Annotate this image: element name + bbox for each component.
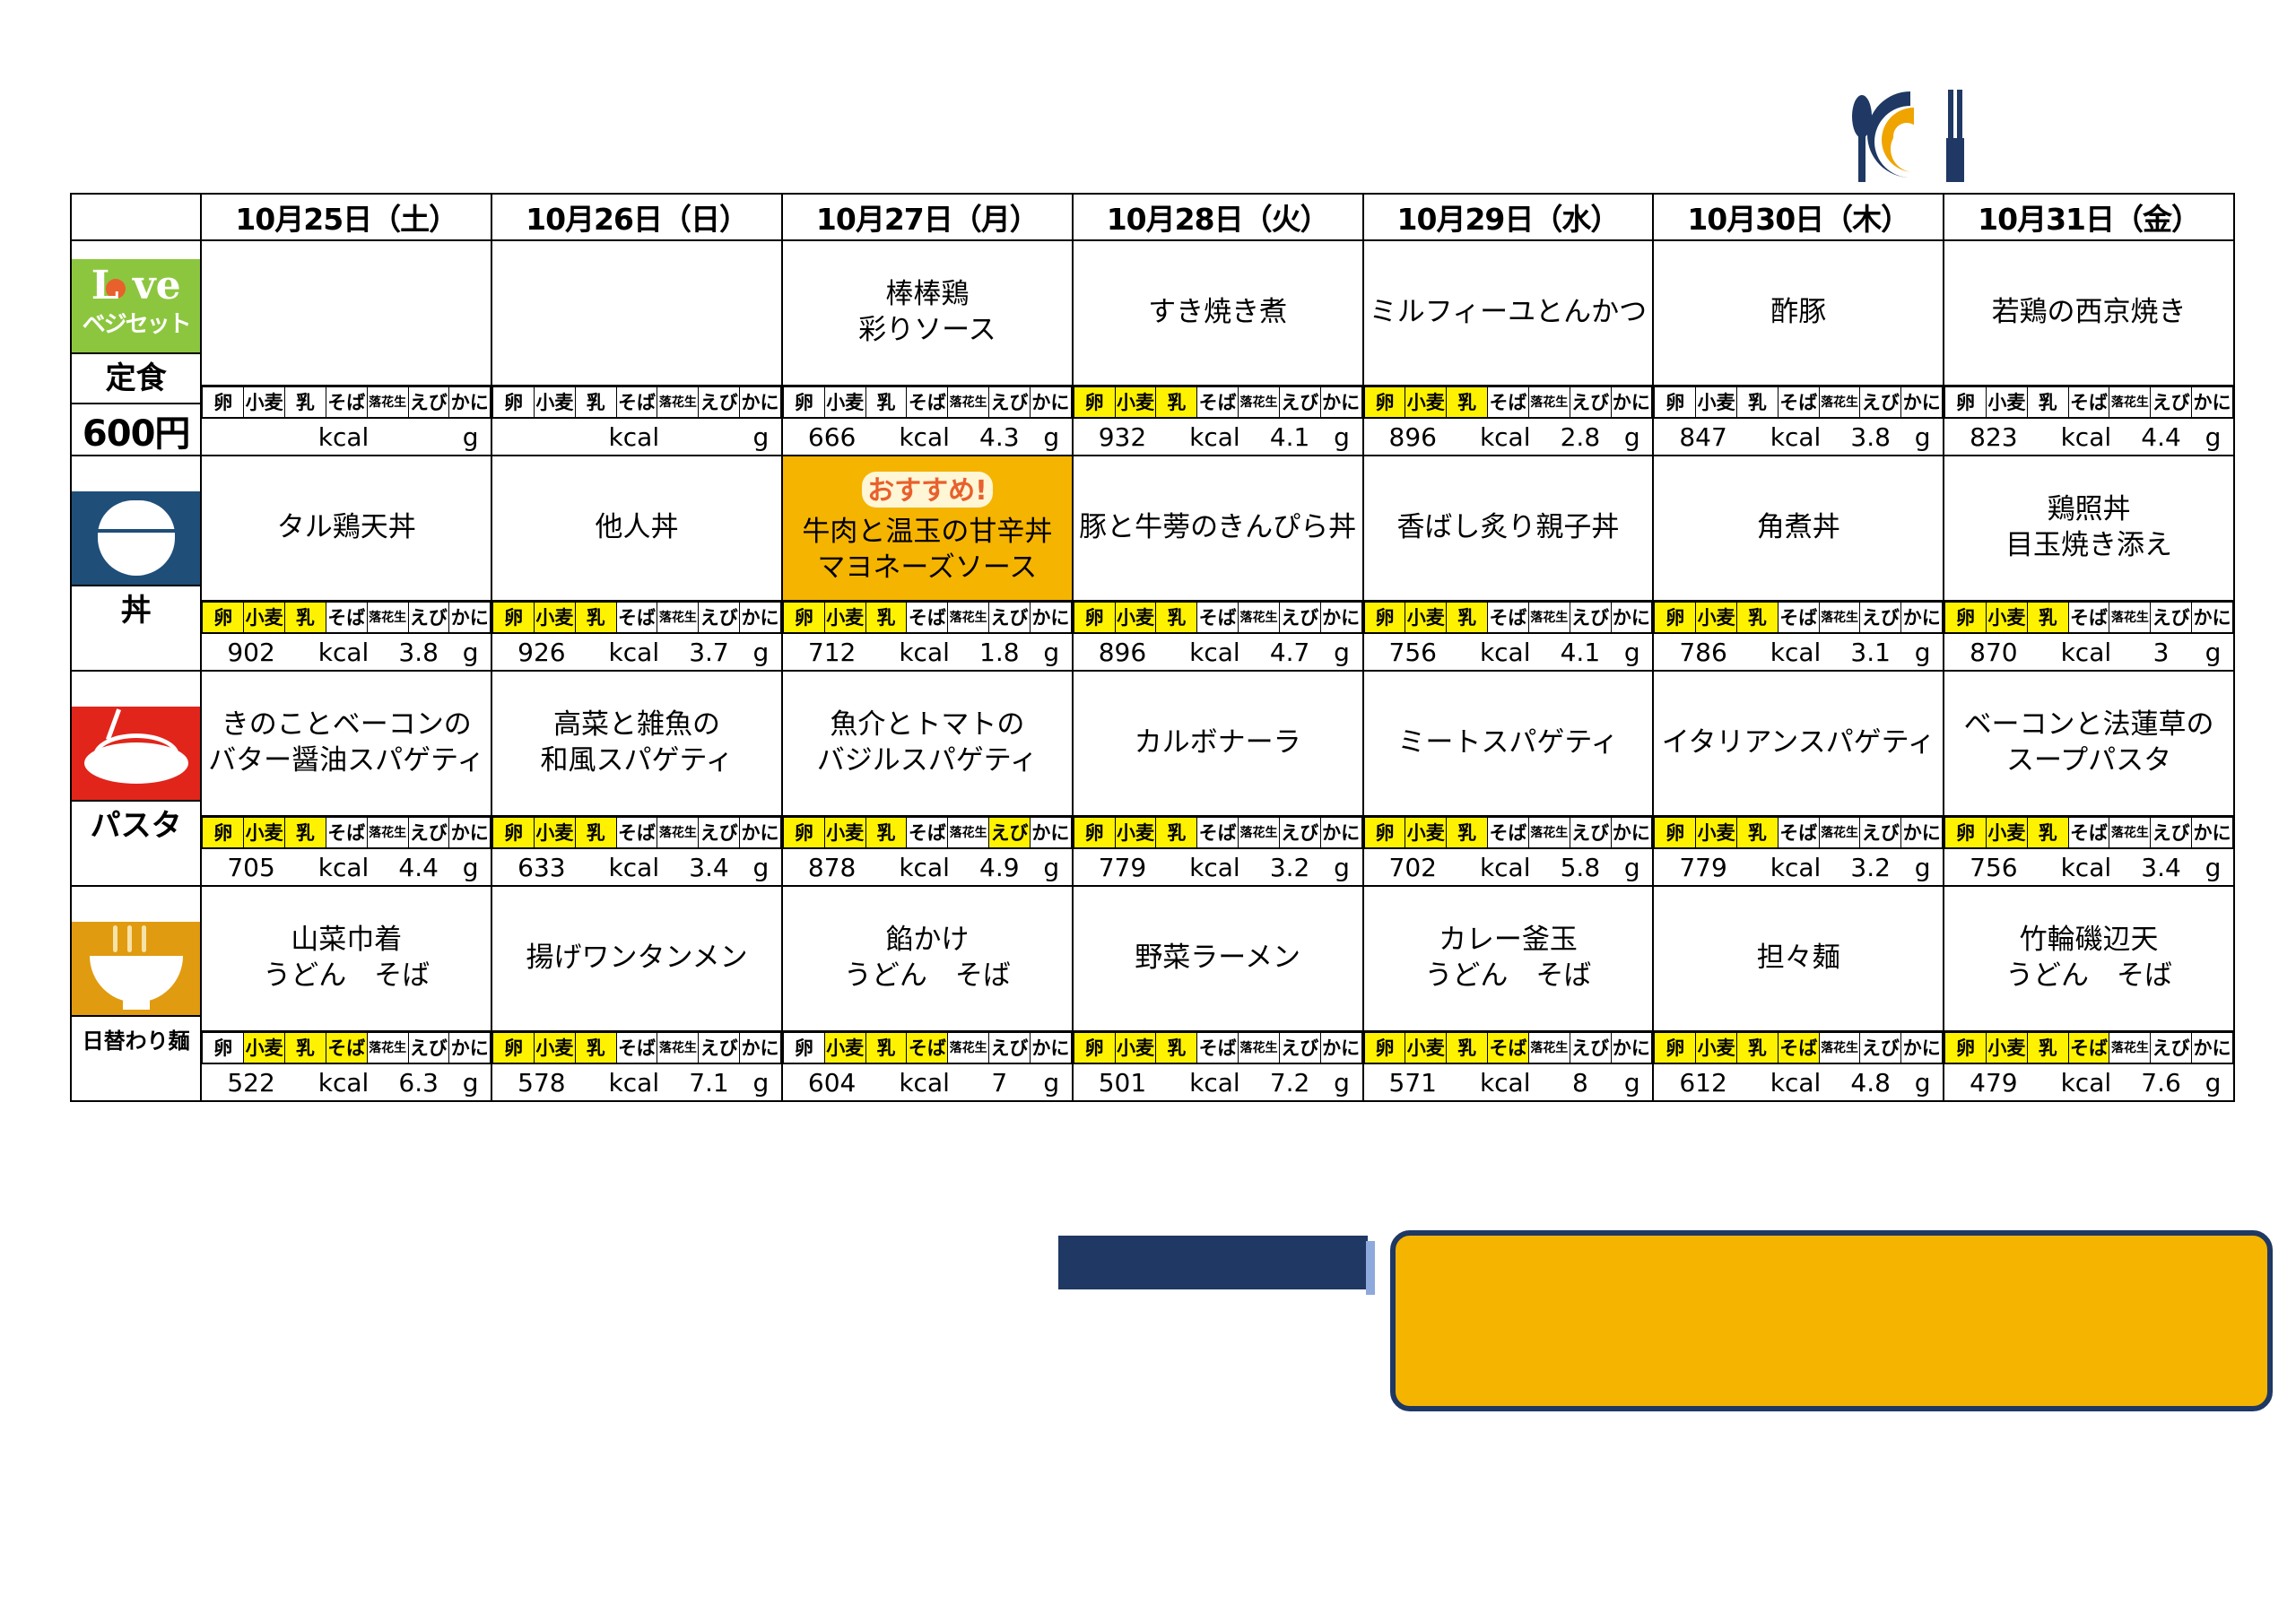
- dish-cell-2-4[interactable]: ミートスパゲティ: [1363, 671, 1654, 816]
- allergen-wrap: 卵小麦乳そば落花生えびかに: [202, 386, 491, 417]
- cell-info-1-6: 卵小麦乳そば落花生えびかに870kcal3g: [1944, 601, 2234, 671]
- allergen-かに: かに: [740, 818, 781, 849]
- allergen-そば: そば: [907, 818, 948, 849]
- recommendation-callout: [1390, 1230, 2273, 1411]
- allergen-小麦: 小麦: [1986, 1033, 2027, 1064]
- allergen-そば: そば: [1778, 818, 1819, 849]
- info-row-2: 卵小麦乳そば落花生えびかに705kcal4.4g卵小麦乳そば落花生えびかに633…: [71, 816, 2234, 886]
- kcal-unit: kcal: [591, 634, 678, 670]
- kcal-value: 926: [492, 634, 590, 670]
- cell-info-2-3: 卵小麦乳そば落花生えびかに779kcal3.2g: [1073, 816, 1363, 886]
- allergen-かに: かに: [2192, 603, 2233, 634]
- dish-name: 牛肉と温玉の甘辛丼マヨネーズソース: [783, 515, 1072, 586]
- allergen-そば: そば: [907, 603, 948, 634]
- allergen-小麦: 小麦: [824, 387, 865, 419]
- allergen-そば: そば: [1778, 603, 1819, 634]
- cell-info-0-6: 卵小麦乳そば落花生えびかに823kcal4.4g: [1944, 386, 2234, 456]
- cell-info-1-3: 卵小麦乳そば落花生えびかに896kcal4.7g: [1073, 601, 1363, 671]
- category-cell-2: パスタ: [71, 671, 201, 886]
- allergen-乳: 乳: [1156, 818, 1197, 849]
- allergen-wrap: 卵小麦乳そば落花生えびかに: [492, 1032, 781, 1063]
- nutrition-strip-0-6: 823kcal4.4g: [1944, 419, 2233, 455]
- dish-cell-0-3[interactable]: すき焼き煮: [1073, 240, 1363, 386]
- salt-unit: g: [1321, 849, 1361, 885]
- dish-cell-0-1[interactable]: [491, 240, 782, 386]
- kcal-value: [492, 419, 590, 455]
- nutrition-strip-2-2: 878kcal4.9g: [783, 849, 1072, 885]
- dish-name: 高菜と雑魚の和風スパゲティ: [492, 707, 781, 778]
- salt-unit: g: [2193, 849, 2233, 885]
- allergen-wrap: 卵小麦乳そば落花生えびかに: [492, 386, 781, 417]
- nutrition-strip-1-6: 870kcal3g: [1944, 634, 2233, 670]
- allergen-落花生: 落花生: [367, 387, 408, 419]
- salt-unit: g: [2193, 634, 2233, 670]
- allergen-そば: そば: [616, 818, 657, 849]
- allergen-そば: そば: [326, 387, 367, 419]
- kcal-unit: kcal: [1462, 419, 1549, 455]
- dish-cell-0-2[interactable]: 棒棒鶏彩りソース: [782, 240, 1073, 386]
- allergen-えび: えび: [989, 387, 1031, 419]
- allergen-乳: 乳: [1447, 603, 1488, 634]
- kcal-value: [202, 419, 300, 455]
- allergen-小麦: 小麦: [1115, 1033, 1156, 1064]
- dish-cell-1-4[interactable]: 香ばし炙り親子丼: [1363, 456, 1654, 601]
- allergen-そば: そば: [2068, 1033, 2109, 1064]
- allergen-落花生: 落花生: [1819, 818, 1860, 849]
- nutrition-wrap: 823kcal4.4g: [1944, 417, 2233, 455]
- allergen-strip-3-1: 卵小麦乳そば落花生えびかに: [492, 1032, 781, 1064]
- allergen-wrap: 卵小麦乳そば落花生えびかに: [783, 602, 1072, 632]
- allergen-卵: 卵: [493, 387, 535, 419]
- allergen-乳: 乳: [1737, 387, 1779, 419]
- cell-info-0-4: 卵小麦乳そば落花生えびかに896kcal2.8g: [1363, 386, 1654, 456]
- allergen-落花生: 落花生: [1239, 387, 1280, 419]
- salt-value: 3: [2129, 634, 2193, 670]
- dish-name: 竹輪磯辺天うどん そば: [1944, 923, 2233, 994]
- kcal-value: 479: [1944, 1064, 2042, 1100]
- allergen-落花生: 落花生: [1819, 387, 1860, 419]
- allergen-えび: えび: [2151, 603, 2192, 634]
- nutrition-strip-0-1: kcalg: [492, 419, 781, 455]
- category-label-1: 丼: [72, 585, 200, 635]
- allergen-えび: えび: [699, 387, 740, 419]
- kcal-value: 578: [492, 1064, 590, 1100]
- allergen-wrap: 卵小麦乳そば落花生えびかに: [1944, 602, 2233, 632]
- allergen-そば: そば: [326, 1033, 367, 1064]
- cell-info-2-6: 卵小麦乳そば落花生えびかに756kcal3.4g: [1944, 816, 2234, 886]
- kcal-unit: kcal: [1752, 634, 1839, 670]
- dish-cell-0-5[interactable]: 酢豚: [1653, 240, 1944, 386]
- allergen-乳: 乳: [2027, 818, 2068, 849]
- allergen-卵: 卵: [1364, 1033, 1405, 1064]
- allergen-小麦: 小麦: [244, 387, 285, 419]
- allergen-卵: 卵: [1655, 1033, 1696, 1064]
- salt-value: 4.4: [2129, 419, 2193, 455]
- allergen-えび: えび: [1279, 603, 1320, 634]
- allergen-小麦: 小麦: [1696, 1033, 1737, 1064]
- allergen-卵: 卵: [1945, 818, 1987, 849]
- allergen-小麦: 小麦: [244, 1033, 285, 1064]
- salt-value: 7.6: [2129, 1064, 2193, 1100]
- allergen-乳: 乳: [1737, 818, 1779, 849]
- allergen-卵: 卵: [1074, 603, 1115, 634]
- allergen-そば: そば: [1488, 603, 1529, 634]
- dish-cell-2-0[interactable]: きのことベーコンのバター醤油スパゲティ: [201, 671, 491, 816]
- allergen-wrap: 卵小麦乳そば落花生えびかに: [1074, 1032, 1362, 1063]
- salt-unit: g: [1031, 1064, 1072, 1100]
- allergen-wrap: 卵小麦乳そば落花生えびかに: [202, 602, 491, 632]
- menu-row-0: L veベジセット定食600円棒棒鶏彩りソースすき焼き煮ミルフィーユとんかつ酢豚…: [71, 240, 2234, 386]
- dish-name: 揚げワンタンメン: [492, 941, 781, 976]
- allergen-卵: 卵: [783, 603, 824, 634]
- cell-info-3-2: 卵小麦乳そば落花生えびかに604kcal7g: [782, 1031, 1073, 1101]
- allergen-乳: 乳: [575, 818, 616, 849]
- allergen-小麦: 小麦: [1696, 387, 1737, 419]
- nutrition-wrap: 896kcal2.8g: [1364, 417, 1653, 455]
- kcal-value: 705: [202, 849, 300, 885]
- allergen-wrap: 卵小麦乳そば落花生えびかに: [1654, 602, 1943, 632]
- allergen-そば: そば: [2068, 387, 2109, 419]
- allergen-卵: 卵: [783, 387, 824, 419]
- allergen-かに: かに: [2192, 387, 2233, 419]
- category-label-2: パスタ: [72, 800, 200, 850]
- dish-cell-3-0[interactable]: 山菜巾着うどん そば: [201, 886, 491, 1031]
- menu-row-1: 丼タル鶏天丼他人丼おすすめ!牛肉と温玉の甘辛丼マヨネーズソース豚と牛蒡のきんぴら…: [71, 456, 2234, 601]
- allergen-strip-1-0: 卵小麦乳そば落花生えびかに: [202, 602, 491, 634]
- nutrition-strip-1-2: 712kcal1.8g: [783, 634, 1072, 670]
- dish-name: ミルフィーユとんかつ: [1364, 295, 1653, 331]
- allergen-落花生: 落花生: [367, 1033, 408, 1064]
- nutrition-wrap: 896kcal4.7g: [1074, 632, 1362, 670]
- cell-info-2-2: 卵小麦乳そば落花生えびかに878kcal4.9g: [782, 816, 1073, 886]
- allergen-かに: かに: [1901, 818, 1943, 849]
- dish-name: 山菜巾着うどん そば: [202, 923, 491, 994]
- salt-value: [387, 419, 450, 455]
- allergen-卵: 卵: [1074, 1033, 1115, 1064]
- dish-name: 香ばし炙り親子丼: [1364, 510, 1653, 546]
- kcal-value: 571: [1364, 1064, 1462, 1100]
- allergen-落花生: 落花生: [1528, 1033, 1570, 1064]
- allergen-wrap: 卵小麦乳そば落花生えびかに: [1944, 386, 2233, 417]
- allergen-えび: えび: [699, 818, 740, 849]
- allergen-小麦: 小麦: [534, 603, 575, 634]
- allergen-えび: えび: [2151, 818, 2192, 849]
- allergen-かに: かに: [1901, 387, 1943, 419]
- kcal-unit: kcal: [1171, 849, 1258, 885]
- dish-cell-2-3[interactable]: カルボナーラ: [1073, 671, 1363, 816]
- dish-cell-3-2[interactable]: 餡かけうどん そば: [782, 886, 1073, 1031]
- nutrition-wrap: 756kcal3.4g: [1944, 847, 2233, 885]
- dish-cell-1-5[interactable]: 角煮丼: [1653, 456, 1944, 601]
- allergen-卵: 卵: [783, 1033, 824, 1064]
- date-header-5: 10月30日（木）: [1653, 194, 1944, 240]
- allergen-乳: 乳: [575, 387, 616, 419]
- kcal-value: 633: [492, 849, 590, 885]
- dish-cell-1-2[interactable]: おすすめ!牛肉と温玉の甘辛丼マヨネーズソース: [782, 456, 1073, 601]
- info-row-1: 卵小麦乳そば落花生えびかに902kcal3.8g卵小麦乳そば落花生えびかに926…: [71, 601, 2234, 671]
- allergen-strip-0-4: 卵小麦乳そば落花生えびかに: [1364, 386, 1653, 419]
- nutrition-strip-3-4: 571kcal8g: [1364, 1064, 1653, 1100]
- allergen-卵: 卵: [1655, 818, 1696, 849]
- date-header-3: 10月28日（火）: [1073, 194, 1363, 240]
- allergen-卵: 卵: [1655, 387, 1696, 419]
- allergen-えび: えび: [699, 1033, 740, 1064]
- salt-value: 5.8: [1548, 849, 1612, 885]
- cell-info-3-3: 卵小麦乳そば落花生えびかに501kcal7.2g: [1073, 1031, 1363, 1101]
- cell-info-2-5: 卵小麦乳そば落花生えびかに779kcal3.2g: [1653, 816, 1944, 886]
- allergen-落花生: 落花生: [2109, 387, 2151, 419]
- allergen-かに: かに: [449, 387, 491, 419]
- dish-cell-3-5[interactable]: 担々麺: [1653, 886, 1944, 1031]
- nutrition-strip-2-1: 633kcal3.4g: [492, 849, 781, 885]
- nutrition-strip-1-0: 902kcal3.8g: [202, 634, 491, 670]
- recommend-badge-icon: おすすめ!: [860, 470, 995, 509]
- salt-unit: g: [741, 419, 781, 455]
- kcal-unit: kcal: [1462, 849, 1549, 885]
- dish-name: 鶏照丼目玉焼き添え: [1944, 492, 2233, 563]
- allergen-えび: えび: [2151, 1033, 2192, 1064]
- allergen-小麦: 小麦: [534, 1033, 575, 1064]
- salt-unit: g: [1902, 634, 1943, 670]
- allergen-strip-1-5: 卵小麦乳そば落花生えびかに: [1654, 602, 1943, 634]
- allergen-落花生: 落花生: [2109, 603, 2151, 634]
- dish-name: 餡かけうどん そば: [783, 923, 1072, 994]
- allergen-かに: かに: [1320, 818, 1361, 849]
- nutrition-strip-0-2: 666kcal4.3g: [783, 419, 1072, 455]
- allergen-strip-1-2: 卵小麦乳そば落花生えびかに: [783, 602, 1072, 634]
- allergen-かに: かに: [740, 1033, 781, 1064]
- kcal-unit: kcal: [300, 1064, 387, 1100]
- salt-value: 8: [1548, 1064, 1612, 1100]
- category-cell-1: 丼: [71, 456, 201, 671]
- allergen-そば: そば: [1197, 603, 1239, 634]
- allergen-小麦: 小麦: [1405, 603, 1447, 634]
- corner-cell: [71, 194, 201, 240]
- allergen-小麦: 小麦: [1696, 818, 1737, 849]
- dish-cell-0-6[interactable]: 若鶏の西京焼き: [1944, 240, 2234, 386]
- cell-info-2-1: 卵小麦乳そば落花生えびかに633kcal3.4g: [491, 816, 782, 886]
- dish-cell-2-5[interactable]: イタリアンスパゲティ: [1653, 671, 1944, 816]
- allergen-えび: えび: [1570, 603, 1611, 634]
- salt-unit: g: [450, 634, 491, 670]
- menu-row-3: 日替わり麺山菜巾着うどん そば揚げワンタンメン餡かけうどん そば野菜ラーメンカレ…: [71, 886, 2234, 1031]
- cell-info-3-0: 卵小麦乳そば落花生えびかに522kcal6.3g: [201, 1031, 491, 1101]
- allergen-卵: 卵: [1945, 1033, 1987, 1064]
- allergen-そば: そば: [1488, 387, 1529, 419]
- allergen-えび: えび: [989, 1033, 1031, 1064]
- dish-name: 豚と牛蒡のきんぴら丼: [1074, 510, 1362, 546]
- allergen-strip-1-4: 卵小麦乳そば落花生えびかに: [1364, 602, 1653, 634]
- dish-cell-3-6[interactable]: 竹輪磯辺天うどん そば: [1944, 886, 2234, 1031]
- dish-name: 若鶏の西京焼き: [1944, 295, 2233, 331]
- allergen-かに: かに: [1611, 1033, 1652, 1064]
- allergen-strip-2-6: 卵小麦乳そば落花生えびかに: [1944, 817, 2233, 849]
- nutrition-wrap: 522kcal6.3g: [202, 1063, 491, 1100]
- allergen-そば: そば: [907, 387, 948, 419]
- dish-cell-1-0[interactable]: タル鶏天丼: [201, 456, 491, 601]
- dish-name: 担々麺: [1654, 941, 1943, 976]
- nutrition-strip-3-5: 612kcal4.8g: [1654, 1064, 1943, 1100]
- allergen-wrap: 卵小麦乳そば落花生えびかに: [783, 1032, 1072, 1063]
- dish-cell-1-6[interactable]: 鶏照丼目玉焼き添え: [1944, 456, 2234, 601]
- allergen-落花生: 落花生: [2109, 1033, 2151, 1064]
- dish-cell-3-4[interactable]: カレー釜玉うどん そば: [1363, 886, 1654, 1031]
- salt-value: 4.1: [1258, 419, 1322, 455]
- cell-info-2-0: 卵小麦乳そば落花生えびかに705kcal4.4g: [201, 816, 491, 886]
- salt-value: 4.1: [1548, 634, 1612, 670]
- category-label-3: 日替わり麺: [72, 1015, 200, 1065]
- nutrition-strip-2-0: 705kcal4.4g: [202, 849, 491, 885]
- date-header-1: 10月26日（日）: [491, 194, 782, 240]
- dish-name: タル鶏天丼: [202, 510, 491, 546]
- allergen-かに: かに: [1611, 818, 1652, 849]
- kcal-unit: kcal: [300, 634, 387, 670]
- allergen-小麦: 小麦: [1986, 387, 2027, 419]
- kcal-value: 666: [783, 419, 881, 455]
- allergen-えび: えび: [1279, 387, 1320, 419]
- allergen-落花生: 落花生: [367, 603, 408, 634]
- allergen-かに: かに: [1611, 387, 1652, 419]
- allergen-小麦: 小麦: [824, 603, 865, 634]
- dish-cell-1-3[interactable]: 豚と牛蒡のきんぴら丼: [1073, 456, 1363, 601]
- salt-unit: g: [1321, 419, 1361, 455]
- allergen-落花生: 落花生: [1528, 603, 1570, 634]
- weekly-recommendation-tab: [1058, 1236, 1368, 1289]
- nutrition-wrap: 479kcal7.6g: [1944, 1063, 2233, 1100]
- allergen-えび: えび: [1570, 818, 1611, 849]
- allergen-小麦: 小麦: [1115, 603, 1156, 634]
- allergen-えび: えび: [408, 818, 449, 849]
- allergen-乳: 乳: [2027, 1033, 2068, 1064]
- nutrition-strip-3-6: 479kcal7.6g: [1944, 1064, 2233, 1100]
- allergen-strip-3-4: 卵小麦乳そば落花生えびかに: [1364, 1032, 1653, 1064]
- allergen-かに: かに: [1320, 387, 1361, 419]
- salt-value: 7.2: [1258, 1064, 1322, 1100]
- allergen-乳: 乳: [865, 603, 907, 634]
- allergen-小麦: 小麦: [1405, 387, 1447, 419]
- allergen-乳: 乳: [285, 387, 326, 419]
- allergen-かに: かに: [1030, 387, 1071, 419]
- dish-name: 他人丼: [492, 510, 781, 546]
- dish-name: 酢豚: [1654, 295, 1943, 331]
- allergen-そば: そば: [1197, 818, 1239, 849]
- kcal-value: 902: [202, 634, 300, 670]
- kcal-value: 932: [1074, 419, 1171, 455]
- allergen-strip-2-1: 卵小麦乳そば落花生えびかに: [492, 817, 781, 849]
- allergen-卵: 卵: [1364, 387, 1405, 419]
- salt-value: 1.8: [968, 634, 1031, 670]
- allergen-落花生: 落花生: [1528, 818, 1570, 849]
- kcal-unit: kcal: [2043, 634, 2130, 670]
- allergen-落花生: 落花生: [1239, 818, 1280, 849]
- allergen-小麦: 小麦: [1405, 1033, 1447, 1064]
- allergen-落花生: 落花生: [948, 1033, 989, 1064]
- allergen-strip-0-0: 卵小麦乳そば落花生えびかに: [202, 386, 491, 419]
- kcal-value: 712: [783, 634, 881, 670]
- kcal-value: 896: [1364, 419, 1462, 455]
- nutrition-strip-3-0: 522kcal6.3g: [202, 1064, 491, 1100]
- allergen-そば: そば: [1488, 818, 1529, 849]
- allergen-乳: 乳: [1737, 1033, 1779, 1064]
- allergen-乳: 乳: [1737, 603, 1779, 634]
- salt-value: 4.3: [968, 419, 1031, 455]
- allergen-かに: かに: [449, 818, 491, 849]
- nutrition-strip-2-5: 779kcal3.2g: [1654, 849, 1943, 885]
- nutrition-strip-0-0: kcalg: [202, 419, 491, 455]
- cell-info-1-5: 卵小麦乳そば落花生えびかに786kcal3.1g: [1653, 601, 1944, 671]
- allergen-小麦: 小麦: [824, 818, 865, 849]
- allergen-かに: かに: [2192, 1033, 2233, 1064]
- allergen-落花生: 落花生: [1819, 1033, 1860, 1064]
- allergen-落花生: 落花生: [1819, 603, 1860, 634]
- salt-value: 7.1: [677, 1064, 741, 1100]
- kcal-unit: kcal: [591, 1064, 678, 1100]
- date-header-2: 10月27日（月）: [782, 194, 1073, 240]
- allergen-えび: えび: [1860, 387, 1901, 419]
- dish-cell-0-4[interactable]: ミルフィーユとんかつ: [1363, 240, 1654, 386]
- salt-unit: g: [1612, 1064, 1652, 1100]
- dish-cell-3-1[interactable]: 揚げワンタンメン: [491, 886, 782, 1031]
- allergen-かに: かに: [740, 603, 781, 634]
- allergen-卵: 卵: [1945, 387, 1987, 419]
- allergen-wrap: 卵小麦乳そば落花生えびかに: [783, 386, 1072, 417]
- allergen-かに: かに: [1320, 1033, 1361, 1064]
- salt-value: 7: [968, 1064, 1031, 1100]
- allergen-そば: そば: [907, 1033, 948, 1064]
- kcal-unit: kcal: [300, 419, 387, 455]
- allergen-小麦: 小麦: [244, 603, 285, 634]
- allergen-かに: かに: [449, 603, 491, 634]
- allergen-wrap: 卵小麦乳そば落花生えびかに: [202, 817, 491, 847]
- nutrition-strip-1-3: 896kcal4.7g: [1074, 634, 1362, 670]
- allergen-strip-2-2: 卵小麦乳そば落花生えびかに: [783, 817, 1072, 849]
- nutrition-wrap: 712kcal1.8g: [783, 632, 1072, 670]
- cell-info-3-1: 卵小麦乳そば落花生えびかに578kcal7.1g: [491, 1031, 782, 1101]
- salt-unit: g: [1031, 849, 1072, 885]
- nutrition-wrap: 779kcal3.2g: [1654, 847, 1943, 885]
- allergen-strip-0-1: 卵小麦乳そば落花生えびかに: [492, 386, 781, 419]
- dish-name: ミートスパゲティ: [1364, 725, 1653, 761]
- dish-name: 魚介とトマトのバジルスパゲティ: [783, 707, 1072, 778]
- rice-bowl-icon: [72, 491, 200, 585]
- allergen-かに: かに: [1030, 818, 1071, 849]
- dish-cell-0-0[interactable]: [201, 240, 491, 386]
- dish-cell-2-1[interactable]: 高菜と雑魚の和風スパゲティ: [491, 671, 782, 816]
- allergen-えび: えび: [1860, 1033, 1901, 1064]
- allergen-卵: 卵: [493, 603, 535, 634]
- allergen-wrap: 卵小麦乳そば落花生えびかに: [1654, 817, 1943, 847]
- cell-info-3-6: 卵小麦乳そば落花生えびかに479kcal7.6g: [1944, 1031, 2234, 1101]
- allergen-落花生: 落花生: [367, 818, 408, 849]
- allergen-かに: かに: [1030, 1033, 1071, 1064]
- allergen-strip-0-2: 卵小麦乳そば落花生えびかに: [783, 386, 1072, 419]
- dish-cell-2-2[interactable]: 魚介とトマトのバジルスパゲティ: [782, 671, 1073, 816]
- kcal-value: 702: [1364, 849, 1462, 885]
- noodle-bowl-icon: [72, 922, 200, 1015]
- nutrition-strip-1-5: 786kcal3.1g: [1654, 634, 1943, 670]
- cell-info-0-0: 卵小麦乳そば落花生えびかにkcalg: [201, 386, 491, 456]
- allergen-wrap: 卵小麦乳そば落花生えびかに: [1074, 386, 1362, 417]
- allergen-かに: かに: [2192, 818, 2233, 849]
- kcal-unit: kcal: [1462, 634, 1549, 670]
- allergen-wrap: 卵小麦乳そば落花生えびかに: [1364, 817, 1653, 847]
- dish-cell-2-6[interactable]: ベーコンと法蓮草のスープパスタ: [1944, 671, 2234, 816]
- menu-row-2: パスタきのことベーコンのバター醤油スパゲティ高菜と雑魚の和風スパゲティ魚介とトマ…: [71, 671, 2234, 816]
- dish-name: ベーコンと法蓮草のスープパスタ: [1944, 707, 2233, 778]
- allergen-そば: そば: [326, 818, 367, 849]
- dish-cell-3-3[interactable]: 野菜ラーメン: [1073, 886, 1363, 1031]
- dish-cell-1-1[interactable]: 他人丼: [491, 456, 782, 601]
